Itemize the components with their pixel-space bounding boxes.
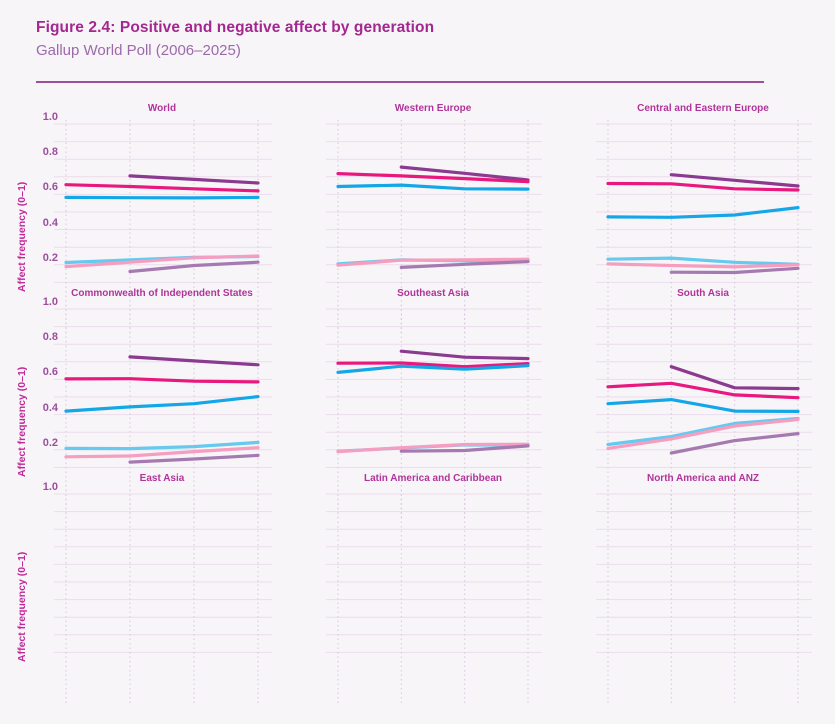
y-axis-tick-label: 1.0 [20,481,58,493]
small-multiples-chart: 1.00.80.60.40.2Affect frequency (0–1)Wor… [0,96,835,520]
panel-title: Central and Eastern Europe [637,103,769,114]
panel-title: Commonwealth of Independent States [71,288,253,299]
title-divider [36,81,764,83]
series-line [66,185,258,191]
series-line [66,397,258,412]
y-axis-title: Affect frequency (0–1) [16,552,28,662]
y-axis-tick-label: 0.8 [20,331,58,343]
y-axis-title: Affect frequency (0–1) [16,367,28,477]
series-line [130,262,258,271]
panel-title: Southeast Asia [397,288,469,299]
series-line [66,197,258,198]
panel-title: East Asia [140,473,185,484]
figure-page: Figure 2.4: Positive and negative affect… [0,0,835,520]
y-axis-tick-label: 0.8 [20,146,58,158]
series-line [66,442,258,448]
panel-row-3 [0,488,835,724]
panel-title: South Asia [677,288,729,299]
y-axis-title: Affect frequency (0–1) [16,182,28,292]
y-axis-tick-label: 1.0 [20,296,58,308]
panel-title: World [148,103,176,114]
series-line [608,420,798,449]
page-title: Figure 2.4: Positive and negative affect… [36,18,798,38]
figure-header: Figure 2.4: Positive and negative affect… [36,18,798,62]
panel-title: North America and ANZ [647,473,759,484]
series-line [338,185,528,189]
panel-title: Western Europe [395,103,472,114]
series-line [608,400,798,412]
series-line [608,383,798,397]
y-axis-tick-label: 1.0 [20,111,58,123]
figure-subtitle: Gallup World Poll (2006–2025) [36,40,798,62]
series-line [130,455,258,462]
series-line [338,366,528,373]
panel-title: Latin America and Caribbean [364,473,502,484]
